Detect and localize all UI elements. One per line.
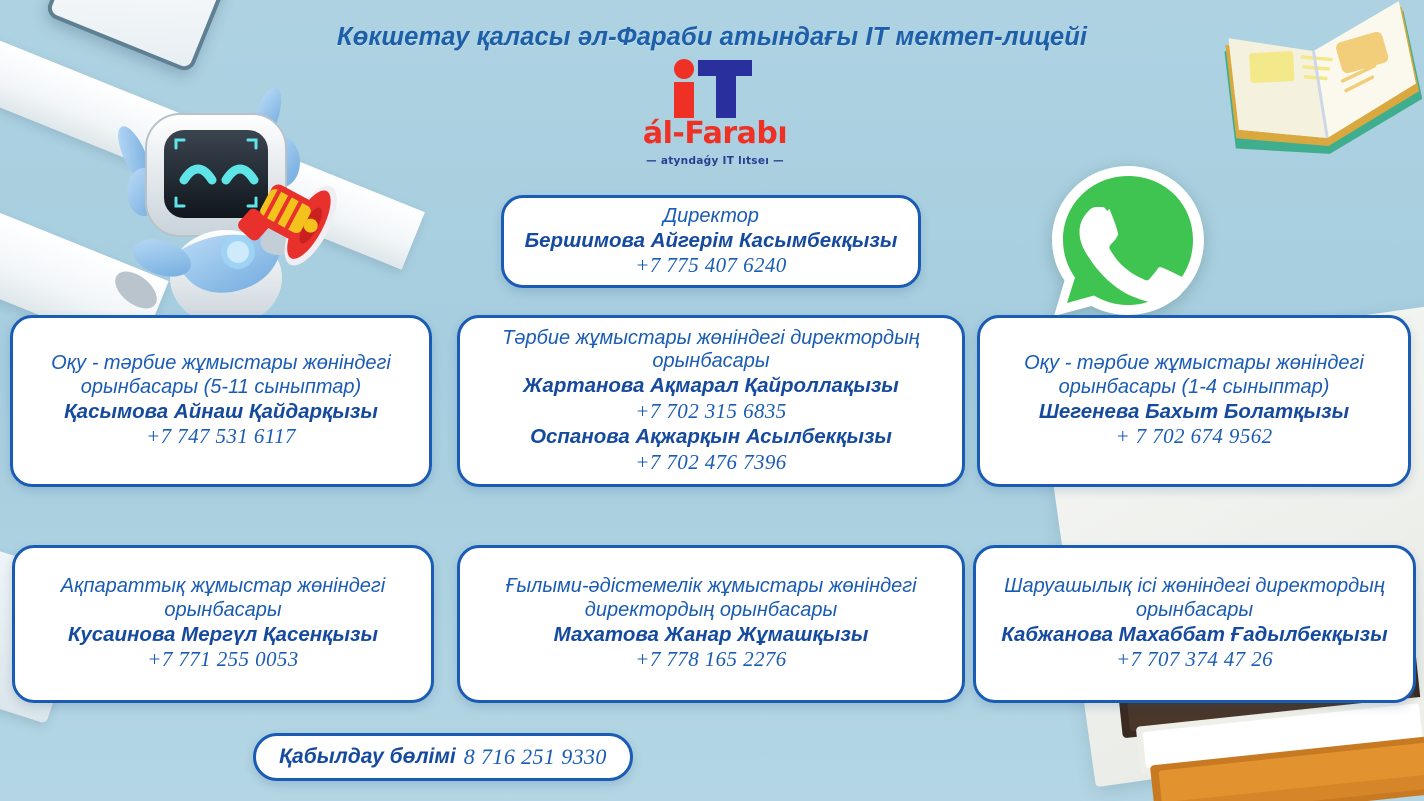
contact-card-information-work[interactable]: Ақпараттық жұмыстар жөніндегі орынбасары… xyxy=(12,545,434,703)
contact-card-deputy-education[interactable]: Тәрбие жұмыстары жөніндегі директордың о… xyxy=(457,315,965,487)
card-role-line1: Ғылыми-әдістемелік жұмыстары жөніндегі xyxy=(505,575,916,598)
card-role-line1: Тәрбие жұмыстары жөніндегі директордың xyxy=(502,327,920,350)
card-person: Кусаинова Мергүл Қасенқызы xyxy=(68,623,378,648)
card-role-line1: Ақпараттық жұмыстар жөніндегі xyxy=(61,575,385,598)
card-phone[interactable]: + 7 702 674 9562 xyxy=(1115,424,1272,449)
card-role-line2: орынбасары (1-4 сыныптар) xyxy=(1059,376,1330,399)
card-role-line2: орынбасары xyxy=(652,350,769,373)
page-title: Көкшетау қаласы әл-Фараби атындағы IT ме… xyxy=(0,23,1424,52)
card-phone[interactable]: +7 775 407 6240 xyxy=(635,253,786,278)
card-person: Шегенева Бахыт Болатқызы xyxy=(1039,400,1349,425)
card-person: Бершимова Айгерім Касымбекқызы xyxy=(525,229,898,254)
card-phone-2[interactable]: +7 702 476 7396 xyxy=(635,450,786,475)
card-role-line2: орынбасары (5-11 сыныптар) xyxy=(81,376,361,399)
logo-subtitle: — atyndaǵy IT lıtseı — xyxy=(615,155,815,167)
card-phone-1[interactable]: +7 702 315 6835 xyxy=(635,399,786,424)
poster-canvas: Көкшетау қаласы әл-Фараби атындағы IT ме… xyxy=(0,0,1424,801)
card-phone[interactable]: +7 747 531 6117 xyxy=(146,424,296,449)
contact-card-director[interactable]: Директор Бершимова Айгерім Касымбекқызы … xyxy=(501,195,921,288)
card-phone[interactable]: +7 778 165 2276 xyxy=(635,647,786,672)
contact-card-scientific-method-work[interactable]: Ғылыми-әдістемелік жұмыстары жөніндегі д… xyxy=(457,545,965,703)
reception-contact-pill[interactable]: Қабылдау бөлімі 8 716 251 9330 xyxy=(253,733,633,781)
card-person-1: Жартанова Ақмарал Қайроллақызы xyxy=(523,374,899,399)
card-role-line1: Оқу - тәрбие жұмыстары жөніндегі xyxy=(1024,352,1364,375)
card-role-line2: орынбасары xyxy=(164,599,281,622)
card-person: Қасымова Айнаш Қайдарқызы xyxy=(64,400,378,425)
card-role-line2: орынбасары xyxy=(1136,599,1253,622)
card-role-line1: Оқу - тәрбие жұмыстары жөніндегі xyxy=(51,352,391,375)
logo-it-mark xyxy=(615,58,815,118)
robot-mascot-illustration xyxy=(96,62,396,320)
card-role-line1: Шаруашылық ісі жөніндегі директордың xyxy=(1004,575,1385,598)
card-role: Директор xyxy=(663,205,759,228)
card-person: Кабжанова Махаббат Ғадылбекқызы xyxy=(1001,623,1387,648)
contact-card-economic-affairs[interactable]: Шаруашылық ісі жөніндегі директордың оры… xyxy=(973,545,1416,703)
contact-card-deputy-grades-5-11[interactable]: Оқу - тәрбие жұмыстары жөніндегі орынбас… xyxy=(10,315,432,487)
reception-label: Қабылдау бөлімі xyxy=(279,745,456,769)
card-person: Махатова Жанар Жұмашқызы xyxy=(554,623,869,648)
card-role-line2: директордың орынбасары xyxy=(585,599,837,622)
whatsapp-icon[interactable] xyxy=(1032,158,1222,323)
school-logo: ál-Farabı — atyndaǵy IT lıtseı — xyxy=(615,58,815,180)
card-phone[interactable]: +7 771 255 0053 xyxy=(147,647,298,672)
contact-card-deputy-grades-1-4[interactable]: Оқу - тәрбие жұмыстары жөніндегі орынбас… xyxy=(977,315,1411,487)
reception-number[interactable]: 8 716 251 9330 xyxy=(464,744,607,770)
card-phone[interactable]: +7 707 374 47 26 xyxy=(1116,647,1273,672)
logo-name: ál-Farabı xyxy=(615,119,815,149)
card-person-2: Оспанова Ақжарқын Асылбекқызы xyxy=(530,425,892,450)
